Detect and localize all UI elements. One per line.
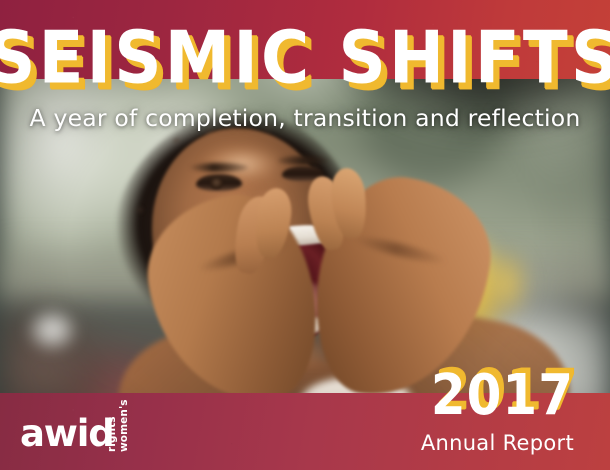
awid-tagline: women's rights (117, 412, 143, 452)
report-cover: SEISMIC SHIFTS A year of completion, tra… (0, 0, 610, 470)
cover-subtitle: A year of completion, transition and ref… (0, 104, 610, 132)
cover-year: 2017 (421, 368, 574, 422)
cover-title: SEISMIC SHIFTS (0, 22, 610, 94)
year-block: 2017 Annual Report (421, 374, 574, 456)
awid-wordmark: awid (20, 415, 114, 452)
awid-logo: awid women's rights (20, 412, 143, 452)
title-area: SEISMIC SHIFTS (0, 22, 610, 84)
cover-report-label: Annual Report (421, 430, 574, 456)
awid-tagline-line-1: women's (118, 399, 130, 452)
awid-tagline-line-2: rights (106, 416, 118, 452)
